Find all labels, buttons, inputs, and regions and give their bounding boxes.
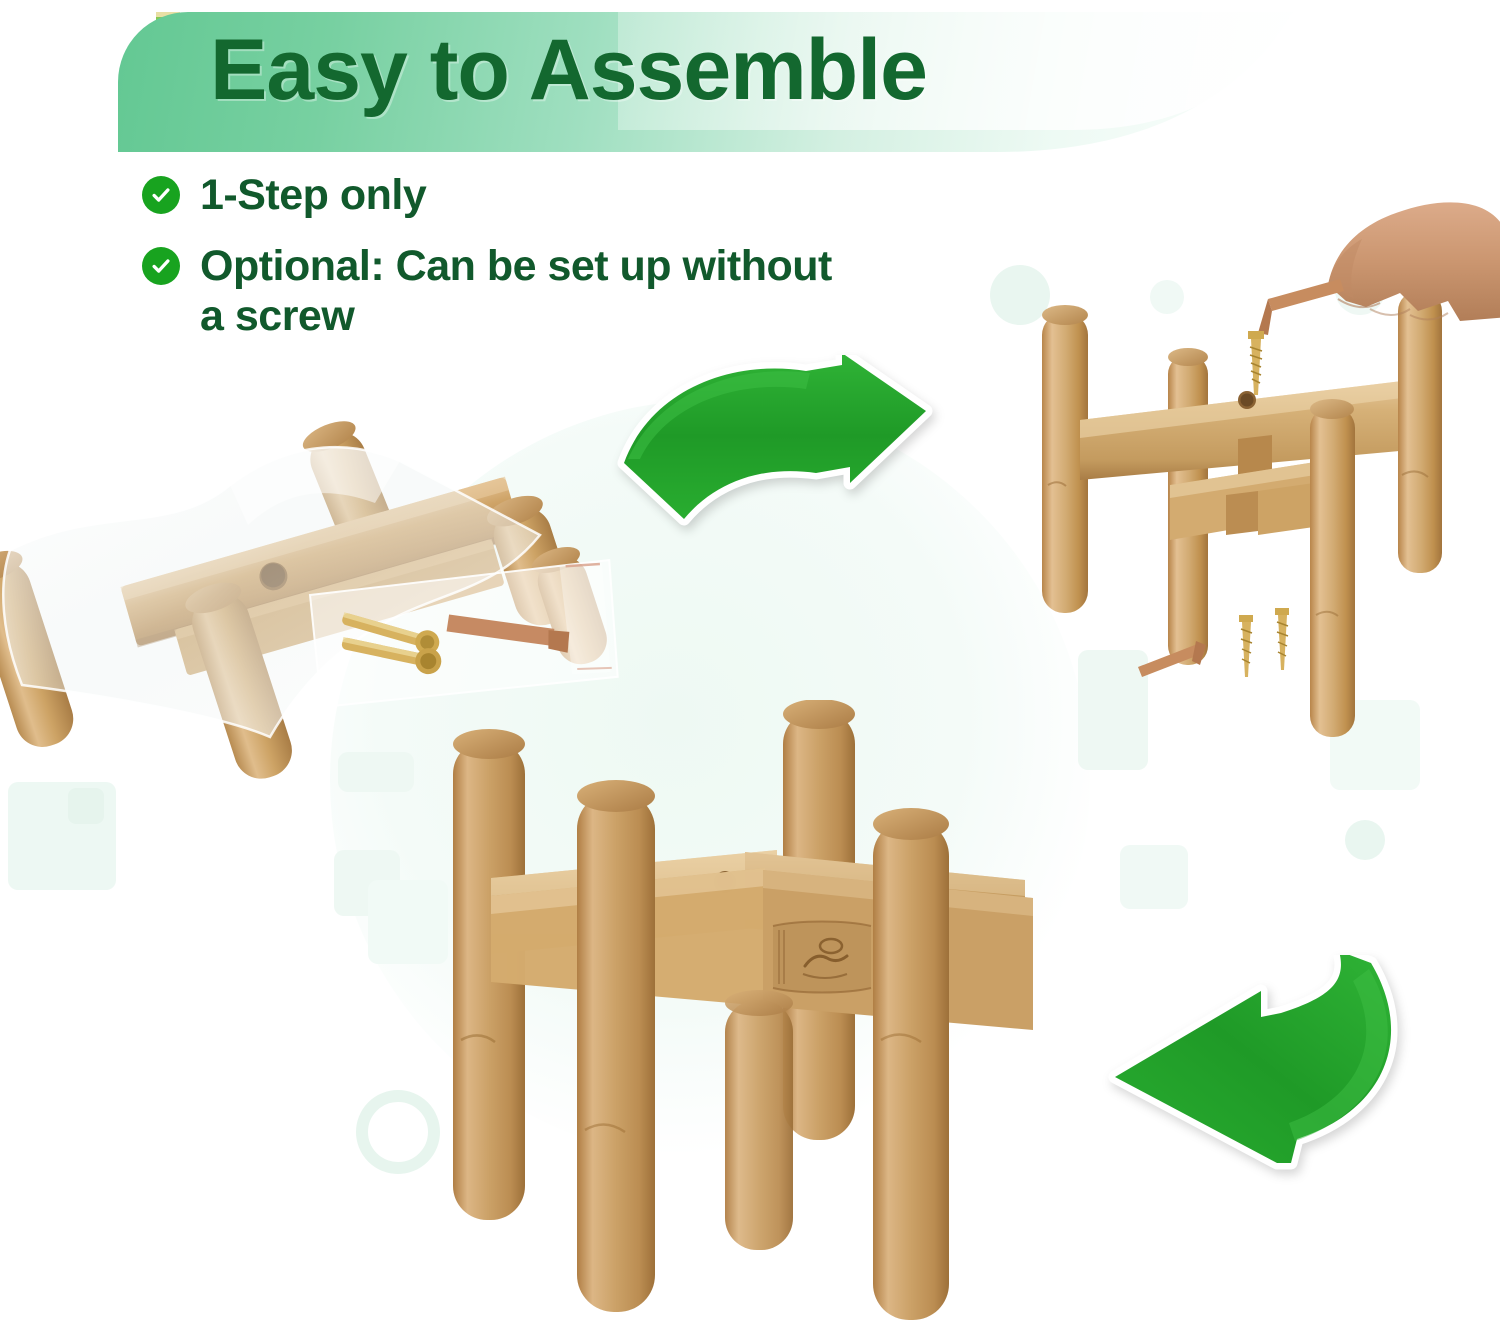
brand-logo-burn [773, 922, 871, 993]
bamboo-leg [873, 808, 949, 1320]
cross-rail [1080, 380, 1410, 481]
screw-icon [1248, 331, 1264, 395]
exploded-assembly-photo [1010, 195, 1500, 885]
decor-square-1 [8, 782, 116, 890]
assembled-plant-stand-photo [425, 700, 1055, 1320]
list-item: 1-Step only [142, 170, 902, 221]
bamboo-leg [725, 990, 793, 1250]
bamboo-leg [577, 780, 655, 1312]
feature-list: 1-Step only Optional: Can be set up with… [142, 170, 902, 362]
check-circle-icon [142, 247, 180, 285]
bamboo-leg [1310, 399, 1355, 737]
screw-icon [1275, 608, 1289, 670]
decor-square-2 [68, 788, 104, 824]
bamboo-leg [1398, 291, 1442, 573]
check-circle-icon [142, 176, 180, 214]
feature-label: 1-Step only [200, 170, 426, 221]
flow-arrow-bottom [1085, 955, 1435, 1170]
list-item: Optional: Can be set up without a screw [142, 241, 902, 342]
hex-key-icon [1258, 279, 1344, 335]
screw-icon [1239, 615, 1253, 677]
hand [1328, 202, 1500, 321]
infographic-root: Easy to Assemble 1-Step only Optional: C… [0, 0, 1500, 1325]
page-title: Easy to Assemble [210, 16, 1150, 124]
flow-arrow-top [610, 355, 940, 530]
feature-label: Optional: Can be set up without a screw [200, 241, 840, 342]
decor-square-4 [334, 850, 400, 916]
